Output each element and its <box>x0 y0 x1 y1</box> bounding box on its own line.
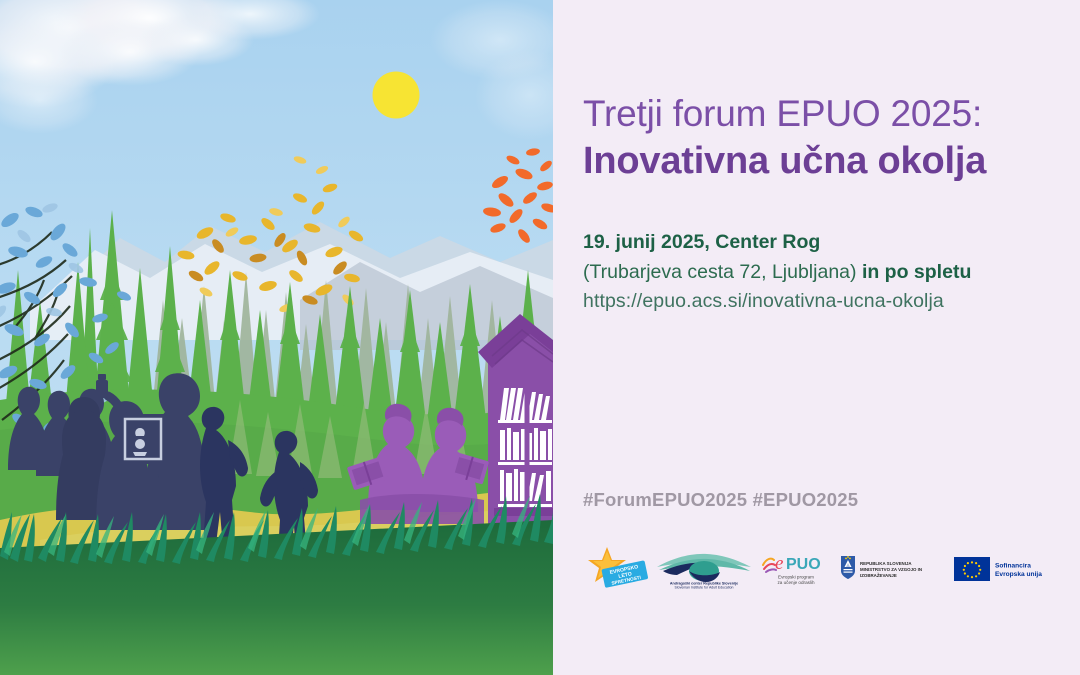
svg-text:Slovenian Institute for Adult: Slovenian Institute for Adult Education <box>675 585 734 589</box>
acs-swoosh-icon <box>657 554 751 582</box>
logo-epuo: e PUO Evropski program za učenje odrasli… <box>761 545 831 589</box>
logo-ministry: REPUBLIKA SLOVENIJA MINISTRSTVO ZA VZGOJ… <box>839 552 947 582</box>
svg-text:Evropska unija: Evropska unija <box>995 571 1042 578</box>
svg-text:za učenje odraslih: za učenje odraslih <box>777 580 814 585</box>
svg-text:Evropski program: Evropski program <box>778 575 814 580</box>
logo-strip: EVROPSKO LETO SPRETNOSTI And <box>583 536 1053 598</box>
svg-text:IZOBRAŽEVANJE: IZOBRAŽEVANJE <box>860 573 897 578</box>
svg-text:REPUBLIKA SLOVENIJA: REPUBLIKA SLOVENIJA <box>860 561 912 566</box>
page-title-line2: Inovativna učna okolja <box>583 139 1053 184</box>
svg-text:MINISTRSTVO ZA VZGOJO IN: MINISTRSTVO ZA VZGOJO IN <box>860 567 922 572</box>
eu-flag-icon <box>954 557 990 581</box>
svg-text:e: e <box>775 553 783 574</box>
hashtags: #ForumEPUO2025 #EPUO2025 <box>583 489 858 511</box>
event-url[interactable]: https://epuo.acs.si/inovativna-ucna-okol… <box>583 287 1053 317</box>
title-block: Tretji forum EPUO 2025: Inovativna učna … <box>583 92 1053 183</box>
event-address: (Trubarjeva cesta 72, Ljubljana) in po s… <box>583 258 1053 288</box>
sun <box>373 72 420 119</box>
poster: Tretji forum EPUO 2025: Inovativna učna … <box>0 0 1080 675</box>
event-online-note: in po spletu <box>862 261 971 283</box>
logo-eu-cofunded: Sofinancira Evropska unija <box>953 552 1053 582</box>
text-panel: Tretji forum EPUO 2025: Inovativna učna … <box>553 0 1080 675</box>
slovenia-crest-icon <box>841 556 855 579</box>
event-date-venue: 19. junij 2025, Center Rog <box>583 228 1053 258</box>
event-address-text: (Trubarjeva cesta 72, Ljubljana) <box>583 261 862 283</box>
illustration-panel <box>0 0 553 675</box>
svg-text:PUO: PUO <box>786 556 821 573</box>
logo-eu-year-of-skills: EVROPSKO LETO SPRETNOSTI <box>583 545 651 589</box>
svg-text:Sofinancira: Sofinancira <box>995 563 1031 570</box>
page-title-line1: Tretji forum EPUO 2025: <box>583 92 1053 136</box>
logo-acs: Andragoški center Republike Slovenije Sl… <box>655 545 753 589</box>
event-details: 19. junij 2025, Center Rog (Trubarjeva c… <box>583 228 1053 317</box>
